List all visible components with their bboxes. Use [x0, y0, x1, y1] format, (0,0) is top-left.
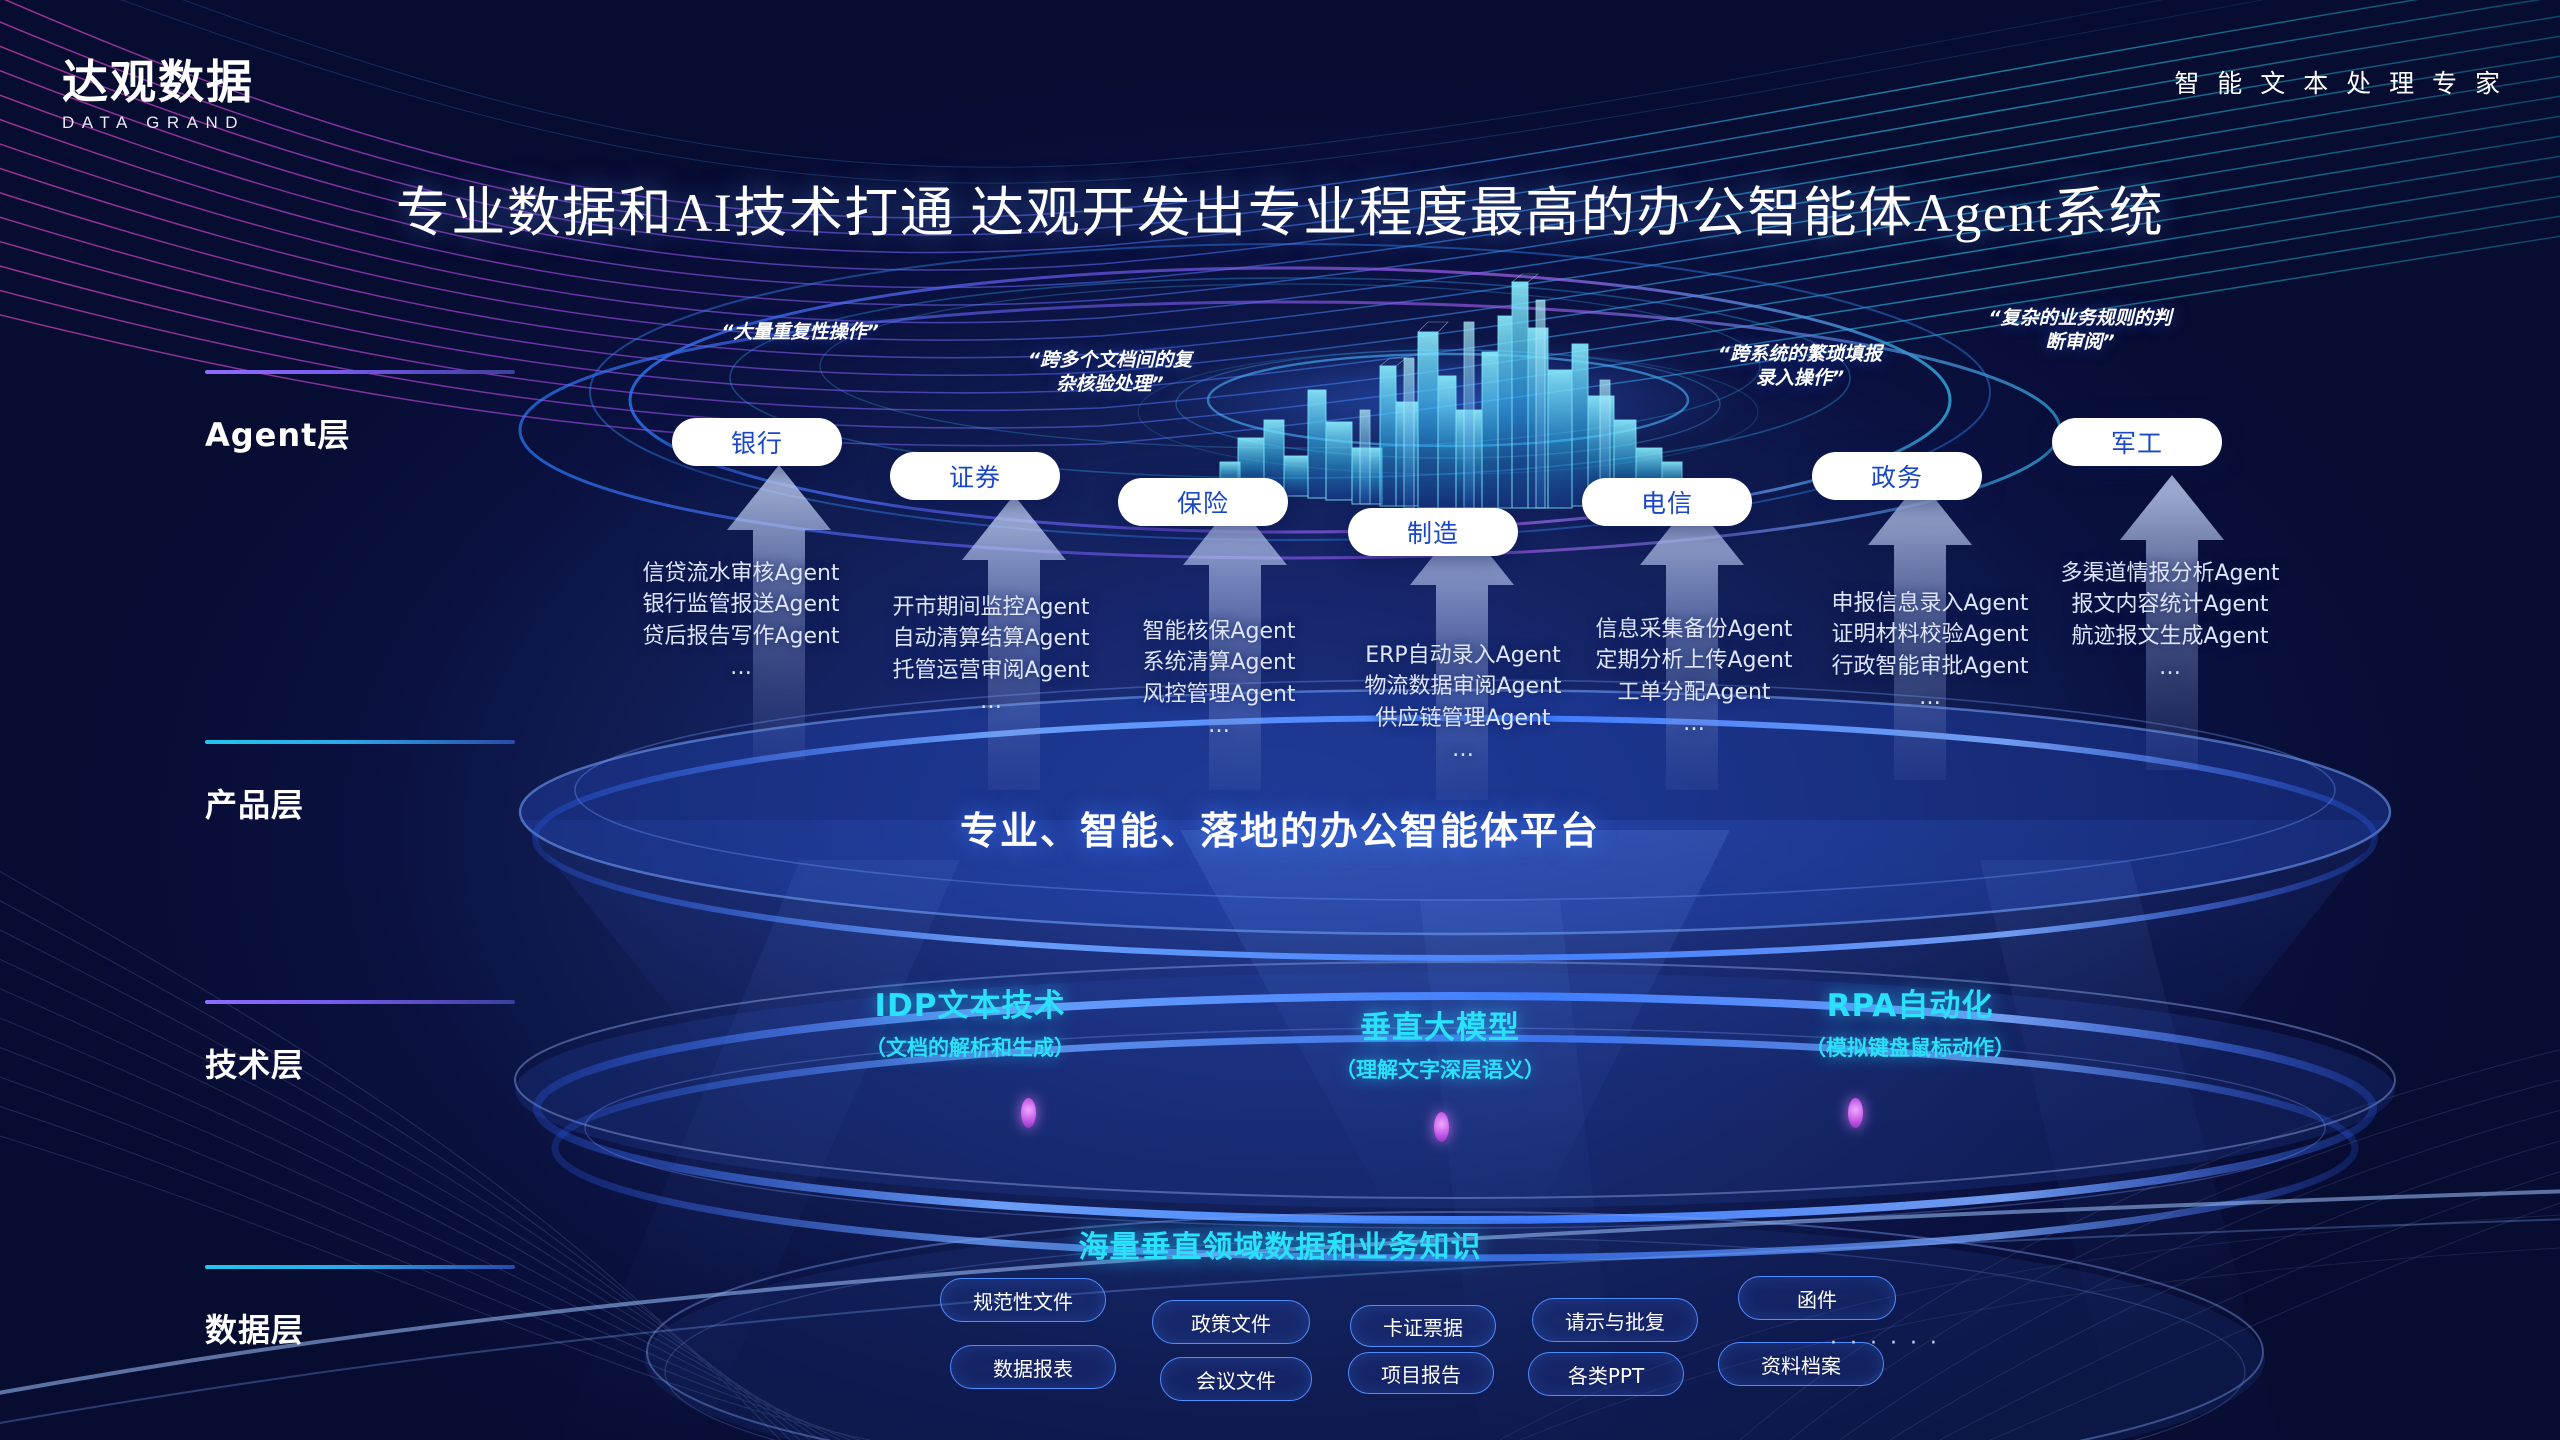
tech-item-title: RPA自动化: [1700, 980, 2120, 1025]
agent-list-defense: 多渠道情报分析Agent 报文内容统计Agent 航迹报文生成Agent …: [2030, 558, 2310, 684]
data-chip-label: 项目报告: [1381, 1359, 1461, 1388]
industry-pill-telecom[interactable]: 电信: [1582, 478, 1752, 526]
industry-pill-label: 制造: [1407, 514, 1459, 550]
data-chip-label: 规范性文件: [973, 1286, 1073, 1315]
layer-divider-tech: [205, 1000, 515, 1004]
pain-point-quote-1: “大量重复性操作”: [660, 320, 940, 344]
data-chip-ppt[interactable]: 各类PPT: [1528, 1352, 1684, 1396]
brand-logo: 达观数据 DATA GRAND: [62, 58, 254, 133]
tech-item-idp: IDP文本技术 （文档的解析和生成）: [760, 980, 1180, 1062]
tech-item-llm: 垂直大模型 （理解文字深层语义）: [1230, 1002, 1650, 1084]
tech-item-subtitle: （文档的解析和生成）: [760, 1032, 1180, 1062]
agent-list-telecom: 信息采集备份Agent 定期分析上传Agent 工单分配Agent …: [1570, 614, 1818, 740]
data-chip-label: 各类PPT: [1568, 1360, 1644, 1389]
pain-point-quote-4: “复杂的业务规则的判 断审阅”: [1930, 306, 2230, 355]
agent-list-securities: 开市期间监控Agent 自动清算结算Agent 托管运营审阅Agent …: [866, 592, 1116, 718]
industry-pill-label: 证券: [949, 458, 1001, 494]
agent-list-bank: 信贷流水审核Agent 银行监管报送Agent 贷后报告写作Agent …: [616, 558, 866, 684]
data-chip-label: 卡证票据: [1383, 1312, 1463, 1341]
industry-pill-label: 军工: [2111, 424, 2163, 460]
data-chip-label: 函件: [1797, 1284, 1837, 1313]
industry-pill-government[interactable]: 政务: [1812, 452, 1982, 500]
layer-label-data: 数据层: [205, 1265, 625, 1351]
tech-item-rpa: RPA自动化 （模拟键盘鼠标动作）: [1700, 980, 2120, 1062]
tech-item-title: IDP文本技术: [760, 980, 1180, 1025]
brand-name-cn: 达观数据: [62, 58, 254, 106]
tech-item-title: 垂直大模型: [1230, 1002, 1650, 1047]
layer-divider-agent: [205, 370, 515, 374]
data-chip-request-reply[interactable]: 请示与批复: [1532, 1298, 1698, 1342]
slide-canvas: 达观数据 DATA GRAND 智 能 文 本 处 理 专 家 专业数据和AI技…: [0, 0, 2560, 1440]
data-chip-letter[interactable]: 函件: [1738, 1276, 1896, 1320]
layer-divider-product: [205, 740, 515, 744]
pain-point-quote-2: “跨多个文档间的复 杂核验处理”: [960, 348, 1260, 397]
data-chip-normative-doc[interactable]: 规范性文件: [940, 1278, 1106, 1322]
product-platform-headline: 专业、智能、落地的办公智能体平台: [0, 800, 2560, 855]
industry-pill-label: 电信: [1641, 484, 1693, 520]
data-chip-policy-doc[interactable]: 政策文件: [1152, 1300, 1310, 1344]
tech-node-dot-rpa: [1848, 1098, 1863, 1128]
tech-node-dot-llm: [1434, 1112, 1449, 1142]
agent-list-insurance: 智能核保Agent 系统清算Agent 风控管理Agent …: [1110, 616, 1328, 742]
industry-pill-insurance[interactable]: 保险: [1118, 478, 1288, 526]
industry-pill-securities[interactable]: 证券: [890, 452, 1060, 500]
data-chip-label: 请示与批复: [1565, 1306, 1665, 1335]
layer-label-text-data: 数据层: [205, 1305, 625, 1351]
data-chip-project-report[interactable]: 项目报告: [1348, 1352, 1494, 1394]
tech-item-subtitle: （理解文字深层语义）: [1230, 1054, 1650, 1084]
data-chip-label: 资料档案: [1761, 1350, 1841, 1379]
industry-pill-label: 政务: [1871, 458, 1923, 494]
industry-pill-bank[interactable]: 银行: [672, 418, 842, 466]
data-chip-ellipsis: · · · · · ·: [1830, 1331, 1940, 1356]
industry-pill-label: 保险: [1177, 484, 1229, 520]
data-chip-label: 数据报表: [993, 1353, 1073, 1382]
layer-label-tech: 技术层: [205, 1000, 625, 1086]
industry-pill-defense[interactable]: 军工: [2052, 418, 2222, 466]
industry-pill-manufacturing[interactable]: 制造: [1348, 508, 1518, 556]
data-chip-card-bill[interactable]: 卡证票据: [1350, 1305, 1496, 1347]
layer-label-agent: Agent层: [205, 370, 625, 456]
data-chip-label: 政策文件: [1191, 1308, 1271, 1337]
data-chip-label: 会议文件: [1196, 1365, 1276, 1394]
tech-item-subtitle: （模拟键盘鼠标动作）: [1700, 1032, 2120, 1062]
data-layer-headline: 海量垂直领域数据和业务知识: [0, 1222, 2560, 1266]
layer-label-text-tech: 技术层: [205, 1040, 625, 1086]
data-chip-meeting-doc[interactable]: 会议文件: [1160, 1357, 1312, 1401]
pain-point-quote-3: “跨系统的繁琐填报 录入操作”: [1650, 342, 1950, 391]
agent-list-government: 申报信息录入Agent 证明材料校验Agent 行政智能审批Agent …: [1800, 588, 2060, 714]
brand-tagline: 智 能 文 本 处 理 专 家: [2174, 64, 2505, 100]
page-title: 专业数据和AI技术打通 达观开发出专业程度最高的办公智能体Agent系统: [0, 168, 2560, 247]
layer-label-text-agent: Agent层: [205, 410, 625, 456]
data-chip-data-report[interactable]: 数据报表: [950, 1345, 1116, 1389]
tech-node-dot-idp: [1021, 1098, 1036, 1128]
agent-list-manufacturing: ERP自动录入Agent 物流数据审阅Agent 供应链管理Agent …: [1332, 640, 1594, 766]
industry-pill-label: 银行: [731, 424, 783, 460]
brand-name-en: DATA GRAND: [62, 113, 254, 133]
